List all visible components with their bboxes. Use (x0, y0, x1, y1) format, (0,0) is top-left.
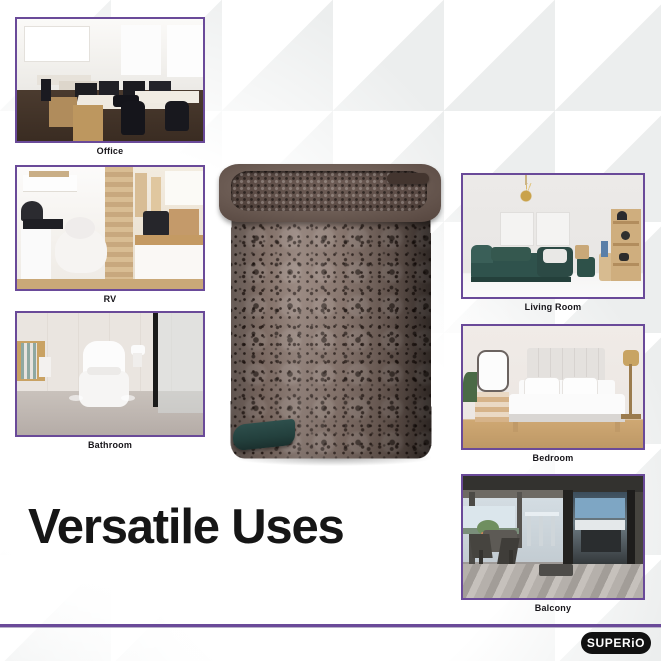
photo-frame-rv (15, 165, 205, 291)
brand-logo-superio: SUPERiO (581, 632, 651, 654)
page-title: Versatile Uses (28, 498, 344, 556)
balcony-scene (463, 476, 643, 598)
photo-frame-bathroom (15, 311, 205, 437)
caption-office: Office (15, 146, 205, 157)
photo-frame-balcony (461, 474, 645, 600)
office-scene (17, 19, 203, 141)
bathroom-scene (17, 313, 203, 435)
product-image-trash-can (205, 150, 460, 490)
photo-frame-office (15, 17, 205, 143)
living-room-scene (463, 175, 643, 297)
caption-balcony: Balcony (461, 603, 645, 614)
caption-rv: RV (15, 294, 205, 305)
rv-scene (17, 167, 203, 289)
lid-hinge-tab (387, 173, 429, 184)
footer-divider-rule-shadow (0, 627, 661, 628)
marketing-image: Office RV (0, 0, 661, 661)
brand-logo-text: SUPERiO (587, 636, 645, 650)
photo-frame-living-room (461, 173, 645, 299)
trash-can-lid (219, 164, 441, 222)
bedroom-scene (463, 326, 643, 448)
caption-living-room: Living Room (461, 302, 645, 313)
caption-bathroom: Bathroom (15, 440, 205, 451)
photo-frame-bedroom (461, 324, 645, 450)
caption-bedroom: Bedroom (461, 453, 645, 464)
